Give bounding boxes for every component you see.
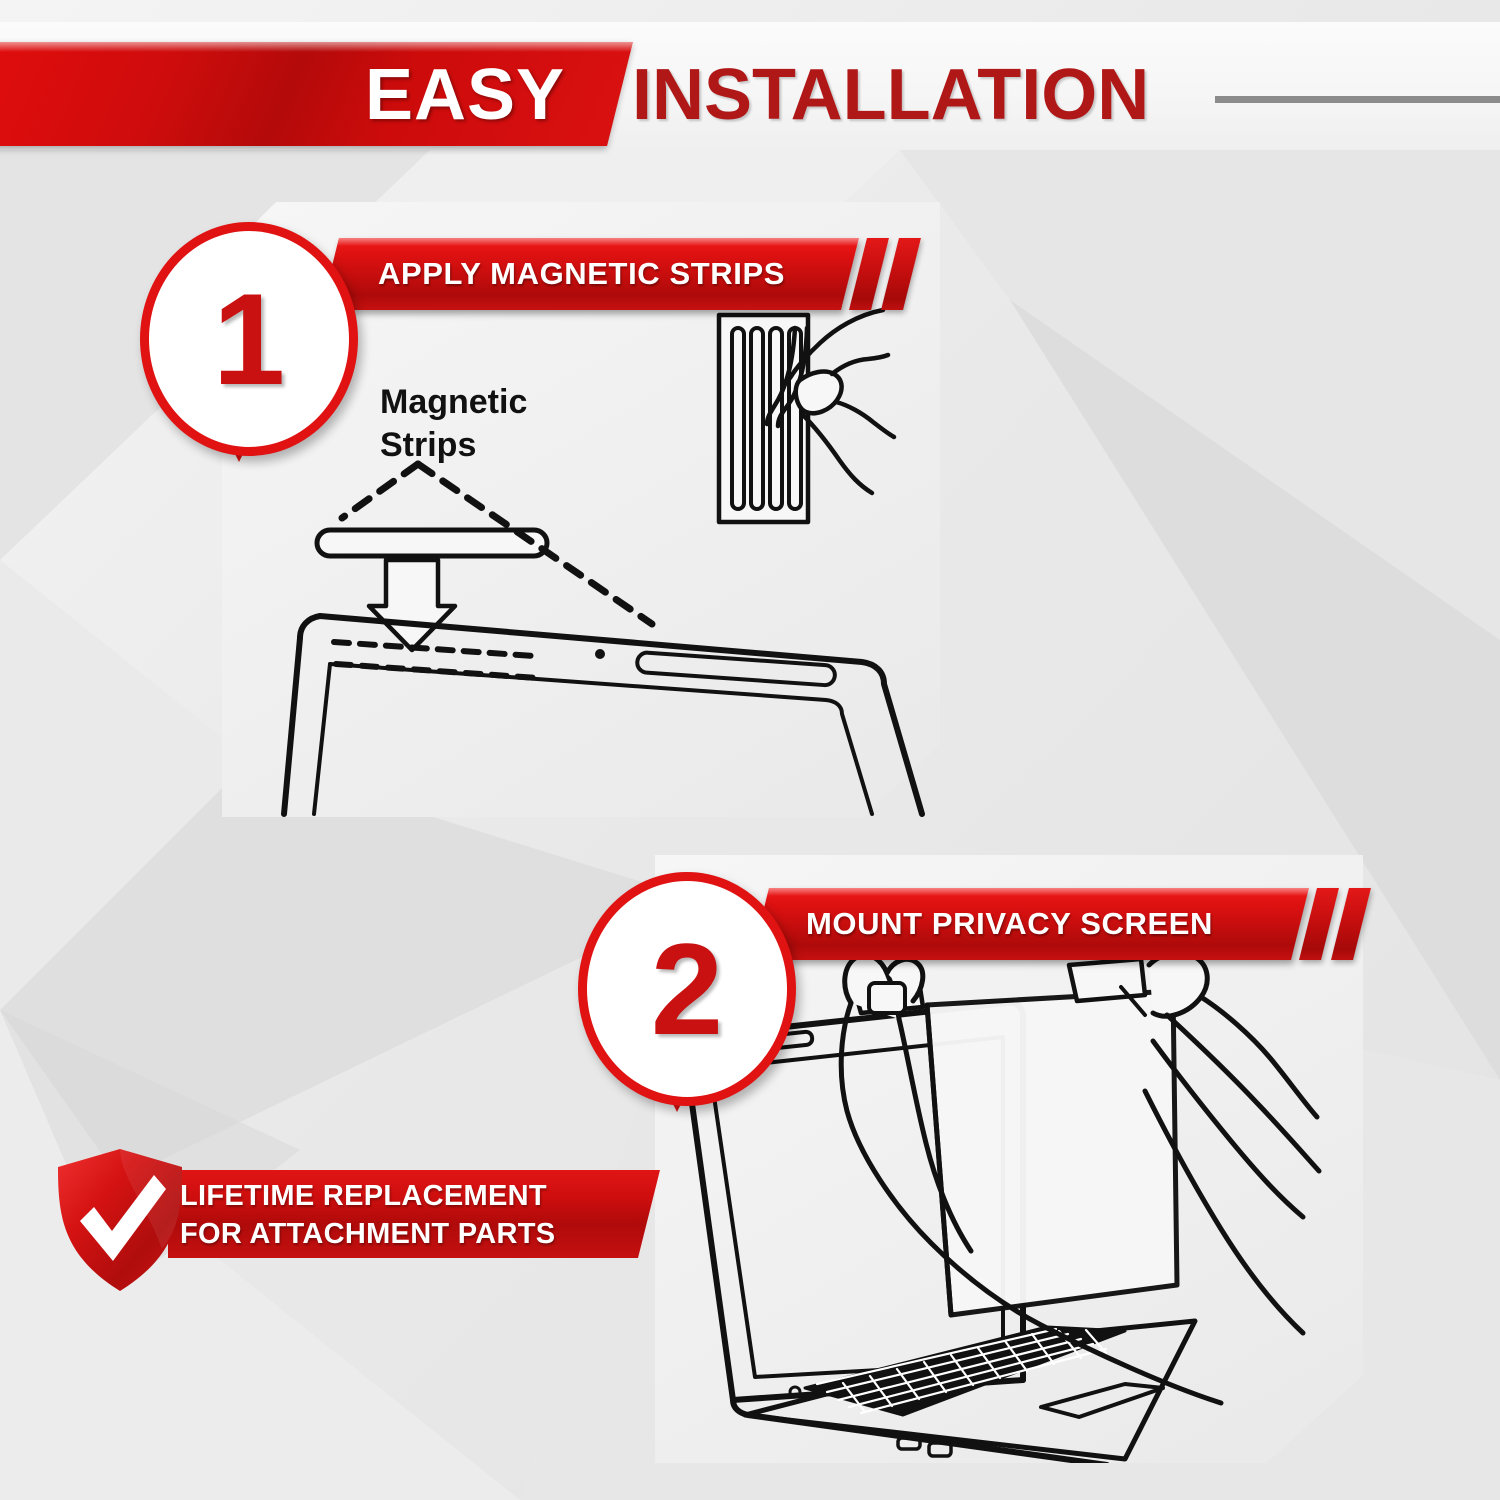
page-title: INSTALLATION [632, 50, 1149, 140]
step-2-number: 2 [587, 881, 787, 1097]
step-1-number-badge: 1 [140, 222, 358, 456]
header-divider-rule [1215, 96, 1500, 103]
shield-check-icon [50, 1145, 190, 1295]
step-2-banner-sliver-2 [1331, 888, 1371, 960]
step-2-number-badge: 2 [578, 872, 796, 1106]
step-1-banner: APPLY MAGNETIC STRIPS [330, 238, 950, 310]
magnetic-strips-annotation: Magnetic Strips [380, 381, 610, 467]
guarantee-text: LIFETIME REPLACEMENT FOR ATTACHMENT PART… [180, 1177, 650, 1253]
infographic-canvas: EASY INSTALLATION [0, 0, 1500, 1500]
step-1-banner-label: APPLY MAGNETIC STRIPS [378, 238, 785, 310]
step-1-banner-sliver-2 [881, 238, 921, 310]
guarantee-line-1: LIFETIME REPLACEMENT [180, 1180, 547, 1212]
annotation-line-2: Strips [380, 426, 476, 464]
step-2-banner: MOUNT PRIVACY SCREEN [760, 888, 1400, 960]
header-title-highlight: EASY [365, 50, 565, 140]
guarantee-badge: LIFETIME REPLACEMENT FOR ATTACHMENT PART… [50, 1145, 660, 1280]
page-header: EASY INSTALLATION [0, 0, 1500, 170]
annotation-line-1: Magnetic [380, 383, 527, 421]
step-2-banner-label: MOUNT PRIVACY SCREEN [806, 888, 1213, 960]
step-1-number: 1 [149, 231, 349, 447]
guarantee-line-2: FOR ATTACHMENT PARTS [180, 1218, 555, 1250]
